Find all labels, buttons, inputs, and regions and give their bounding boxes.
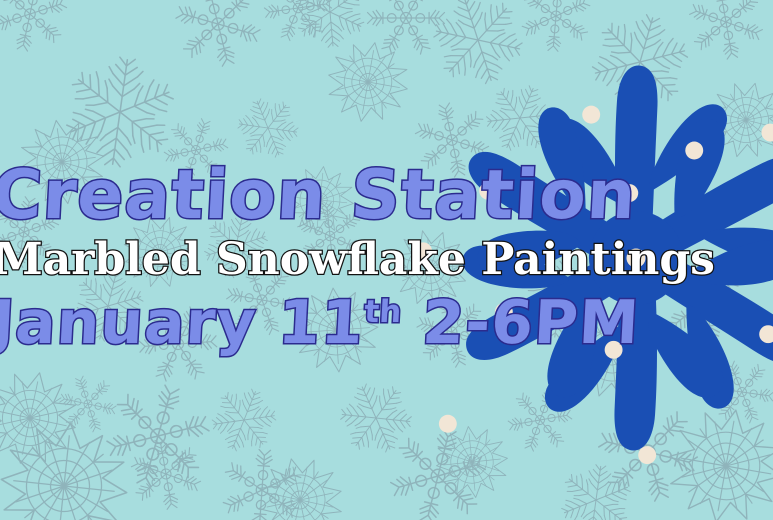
- large-blue-snowflake: [0, 0, 773, 520]
- promo-poster: Creation Station Marbled Snowflake Paint…: [0, 0, 773, 520]
